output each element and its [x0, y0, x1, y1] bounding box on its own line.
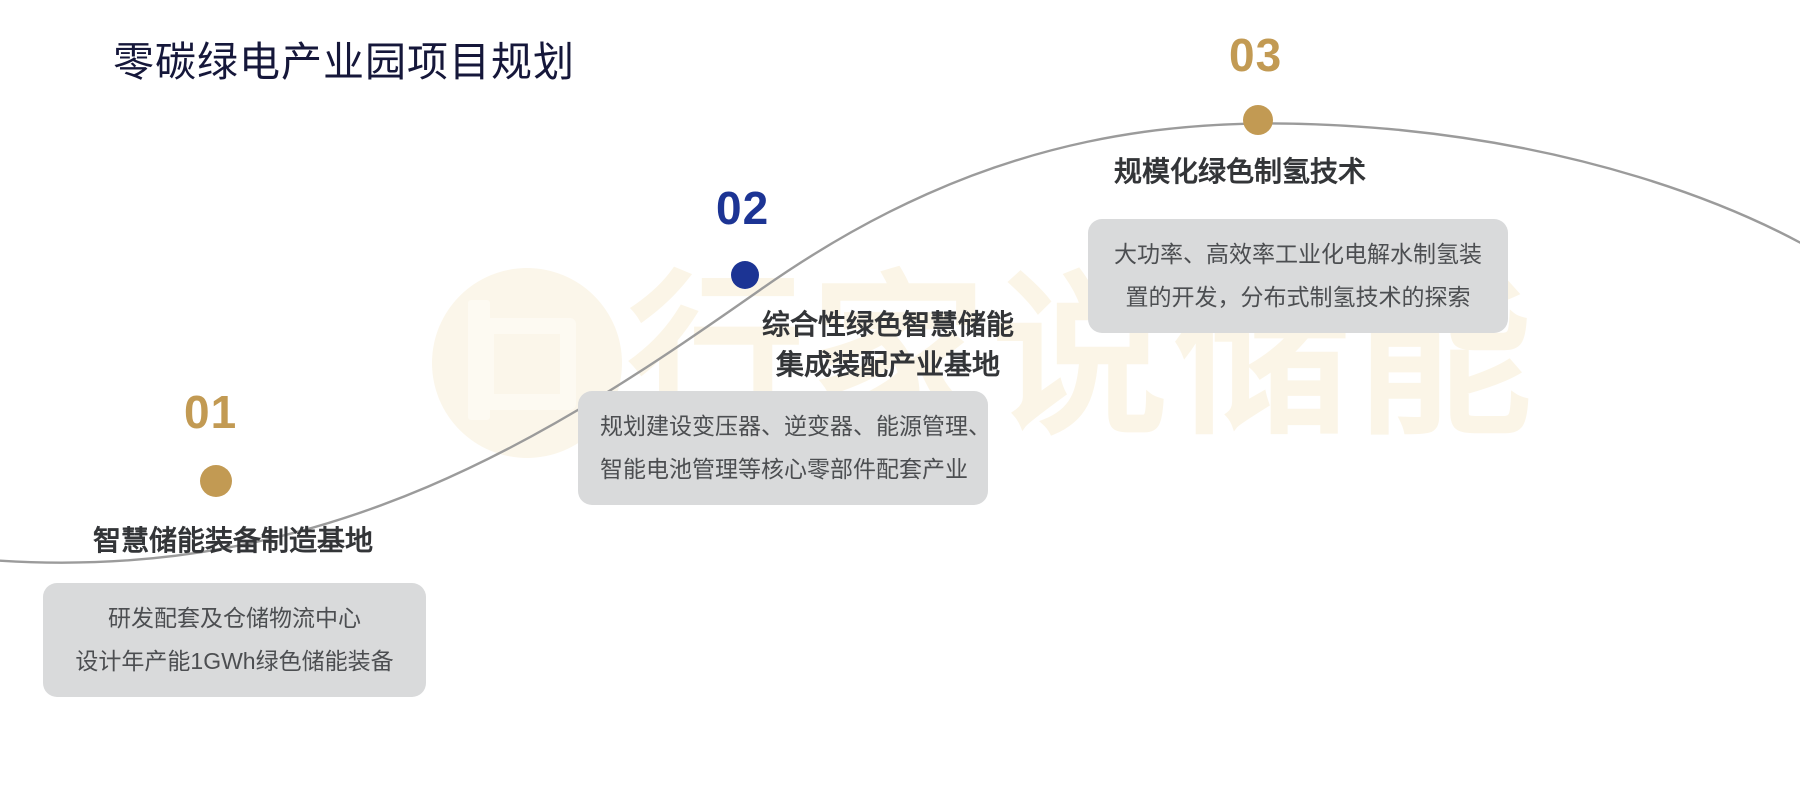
milestone-01-description-line-2: 设计年产能1GWh绿色储能装备 — [65, 640, 404, 683]
milestone-03-description-box: 大功率、高效率工业化电解水制氢装 置的开发，分布式制氢技术的探索 — [1088, 219, 1508, 333]
milestone-01-description-line-1: 研发配套及仓储物流中心 — [65, 597, 404, 640]
milestone-02-description-box: 规划建设变压器、逆变器、能源管理、 智能电池管理等核心零部件配套产业 — [578, 391, 988, 505]
milestone-02-number: 02 — [716, 185, 769, 231]
milestone-03-description-line-1: 大功率、高效率工业化电解水制氢装 — [1110, 233, 1486, 276]
milestone-02-description-line-2: 智能电池管理等核心零部件配套产业 — [600, 448, 966, 491]
milestone-03-heading: 规模化绿色制氢技术 — [1114, 152, 1366, 192]
watermark-logo-bar-icon — [468, 300, 490, 420]
milestone-02-description-line-1: 规划建设变压器、逆变器、能源管理、 — [600, 405, 966, 448]
milestone-02-dot[interactable] — [731, 261, 759, 289]
milestone-02-heading: 综合性绿色智慧储能 集成装配产业基地 — [762, 305, 1014, 385]
watermark-logo-square-icon — [478, 318, 576, 410]
milestone-02-heading-line-2: 集成装配产业基地 — [762, 345, 1014, 385]
milestone-03-dot[interactable] — [1243, 105, 1273, 135]
milestone-03-number: 03 — [1229, 32, 1282, 78]
milestone-01-number: 01 — [184, 389, 237, 435]
milestone-03-description-line-2: 置的开发，分布式制氢技术的探索 — [1110, 276, 1486, 319]
milestone-01-heading: 智慧储能装备制造基地 — [93, 521, 373, 561]
milestone-02-heading-line-1: 综合性绿色智慧储能 — [762, 305, 1014, 345]
milestone-01-dot[interactable] — [200, 465, 232, 497]
milestone-01-description-box: 研发配套及仓储物流中心 设计年产能1GWh绿色储能装备 — [43, 583, 426, 697]
infographic-canvas: 行家说储能 零碳绿电产业园项目规划 01 智慧储能装备制造基地 研发配套及仓储物… — [0, 0, 1800, 807]
page-title: 零碳绿电产业园项目规划 — [113, 28, 575, 88]
